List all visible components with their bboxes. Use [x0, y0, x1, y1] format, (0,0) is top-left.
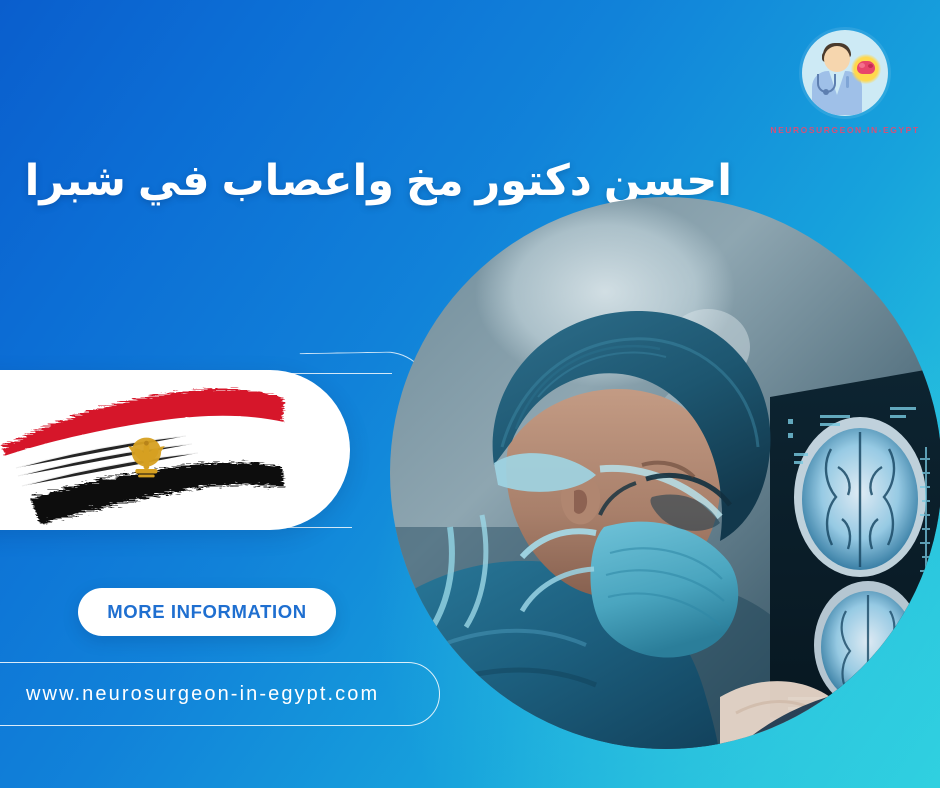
brain-icon	[857, 61, 875, 74]
website-url-text: www.neurosurgeon-in-egypt.com	[26, 683, 379, 706]
more-information-button[interactable]: MORE INFORMATION	[78, 588, 336, 636]
egypt-flag-icon	[0, 376, 296, 526]
logo-wordmark: NEUROSURGEON-IN-EGYPT	[770, 125, 920, 135]
website-url-pill[interactable]: www.neurosurgeon-in-egypt.com	[0, 662, 440, 726]
face-icon	[824, 46, 850, 72]
poster-canvas: NEUROSURGEON-IN-EGYPT احسن دكتور مخ واعص…	[0, 0, 940, 788]
logo-badge	[802, 30, 888, 116]
surgeon-photo	[390, 197, 940, 749]
egypt-flag-card	[0, 370, 350, 530]
more-information-label: MORE INFORMATION	[107, 601, 306, 623]
stethoscope-icon	[817, 74, 836, 93]
pen-icon	[846, 76, 849, 88]
brand-logo[interactable]: NEUROSURGEON-IN-EGYPT	[770, 30, 920, 135]
